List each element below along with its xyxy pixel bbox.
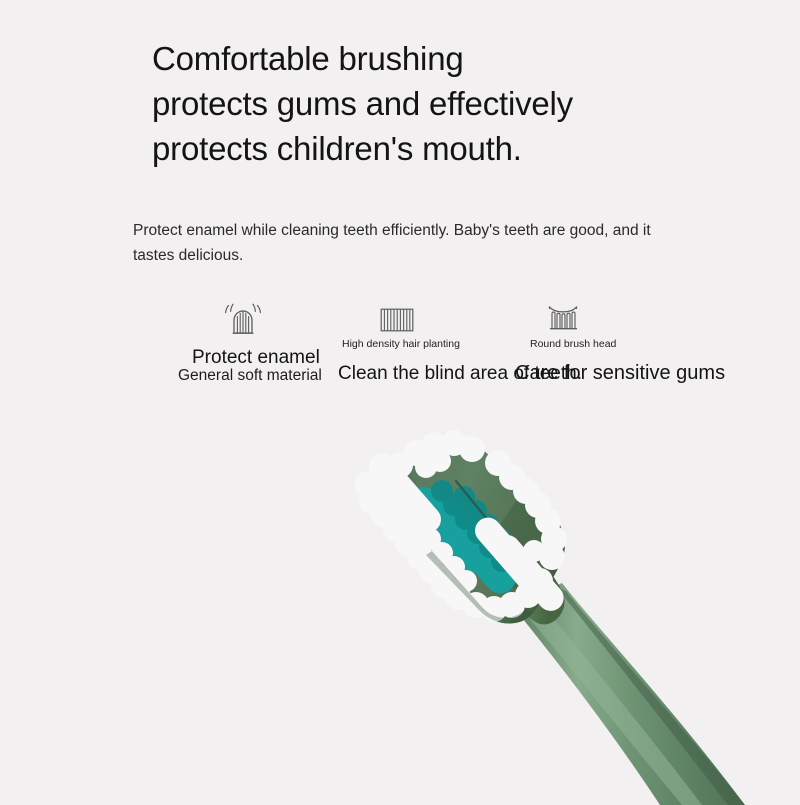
brush-group	[349, 405, 745, 805]
product-feature-page: Comfortable brushing protects gums and e…	[0, 0, 800, 800]
feature-title-sensitive-gums: Care for sensitive gums	[515, 361, 725, 386]
headline-line-2: protects gums and effectively	[152, 81, 672, 126]
dense-bristle-block-icon	[378, 304, 416, 341]
round-brush-head-icon	[543, 298, 583, 343]
toothbrush-illustration	[330, 405, 800, 805]
feature-list: Protect enamel General soft material	[0, 296, 800, 416]
feature-caption-round-head: Round brush head	[530, 338, 616, 351]
headline-line-3: protects children's mouth.	[152, 126, 672, 171]
page-title: Comfortable brushing protects gums and e…	[152, 36, 672, 171]
feature-caption-high-density: High density hair planting	[342, 338, 460, 351]
rounded-brush-head-icon	[220, 300, 266, 345]
page-subtitle: Protect enamel while cleaning teeth effi…	[133, 218, 678, 268]
feature-caption-protect-enamel: General soft material	[178, 365, 322, 386]
handle-highlight	[530, 609, 702, 805]
headline-line-1: Comfortable brushing	[152, 36, 672, 81]
product-image-green-toothbrush	[330, 405, 800, 805]
